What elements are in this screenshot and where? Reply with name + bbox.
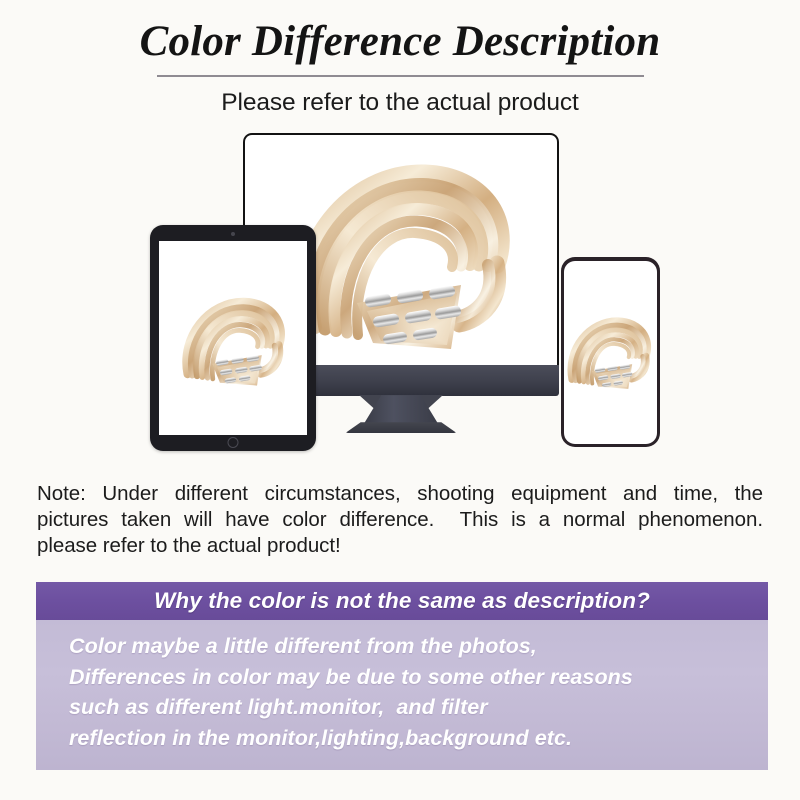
hair-extensions-artwork-phone [564,261,657,444]
page-header: Color Difference Description Please refe… [0,0,800,117]
monitor-stand-base [345,422,457,433]
device-illustration [0,121,800,461]
note-line-1: Note: Under different circumstances, sho… [37,481,763,507]
why-color-panel-body: Color maybe a little different from the … [36,620,768,770]
phone-screen [564,261,657,444]
title-divider [157,75,644,77]
why-color-panel-header: Why the color is not the same as descrip… [36,582,768,620]
hair-extensions-artwork-tablet [159,241,307,435]
why-color-line-3: such as different light.monitor, and fil… [69,692,768,723]
tablet-camera-icon [231,232,235,236]
why-color-line-2: Differences in color may be due to some … [69,662,768,693]
smartphone-device [561,257,660,447]
page-title: Color Difference Description [0,18,800,67]
why-color-line-1: Color maybe a little different from the … [69,631,768,662]
tablet-screen [159,241,307,435]
page-subtitle: Please refer to the actual product [0,89,800,117]
tablet-device [150,225,316,451]
color-difference-note: Note: Under different circumstances, sho… [37,481,763,559]
why-color-panel: Why the color is not the same as descrip… [36,582,768,770]
why-color-line-4: reflection in the monitor,lighting,backg… [69,723,768,754]
tablet-home-button[interactable] [228,437,239,448]
note-line-2: pictures taken will have color differenc… [37,507,763,533]
why-color-panel-title: Why the color is not the same as descrip… [154,588,650,614]
note-line-3: please refer to the actual product! [37,533,763,559]
